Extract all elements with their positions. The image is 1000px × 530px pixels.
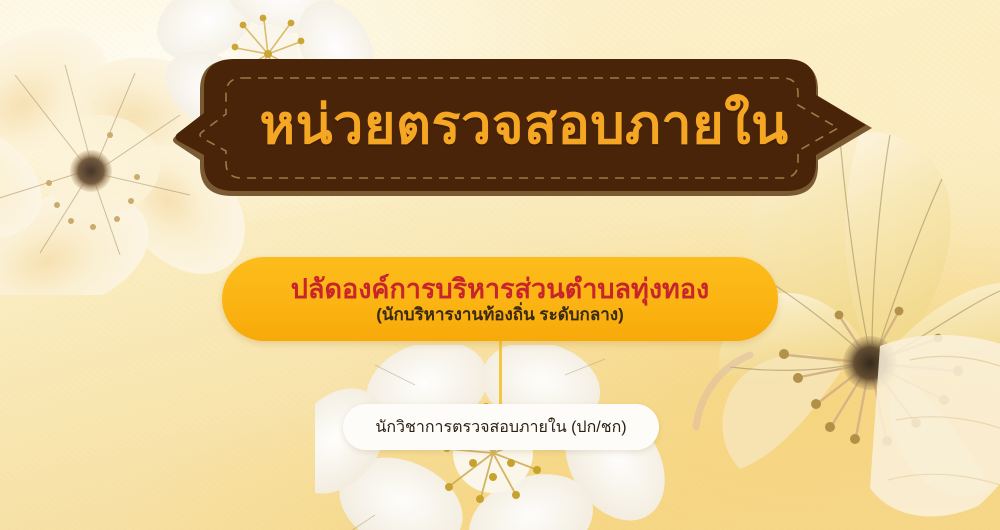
flower-bottom-right-pale-icon: [870, 320, 1000, 530]
node-secondary-title: นักวิชาการตรวจสอบภายใน (ปก/ชก): [375, 415, 626, 440]
node-primary-title: ปลัดองค์การบริหารส่วนตำบลทุ่งทอง: [291, 274, 709, 304]
banner-title: หน่วยตรวจสอบภายใน: [172, 56, 876, 192]
node-secondary[interactable]: นักวิชาการตรวจสอบภายใน (ปก/ชก): [343, 404, 659, 450]
node-primary-subtitle: (นักบริหารงานท้องถิ่น ระดับกลาง): [376, 305, 624, 325]
connector-primary-to-secondary: [499, 339, 502, 405]
poster-canvas: หน่วยตรวจสอบภายใน ปลัดองค์การบริหารส่วนต…: [0, 0, 1000, 530]
banner-plaque: หน่วยตรวจสอบภายใน: [172, 56, 876, 204]
node-primary[interactable]: ปลัดองค์การบริหารส่วนตำบลทุ่งทอง (นักบริ…: [222, 257, 778, 341]
